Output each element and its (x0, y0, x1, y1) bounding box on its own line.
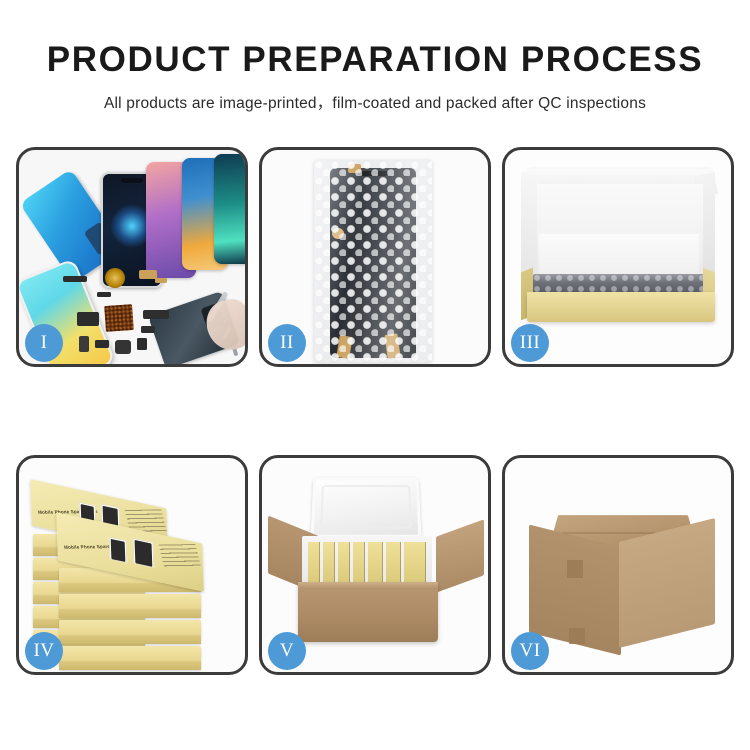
process-step-panel-4: Mobile Phone Spare Parts Mobile Phone Sp… (16, 455, 248, 675)
tape-patch-upper-icon (567, 560, 583, 578)
page-title: PRODUCT PREPARATION PROCESS (0, 42, 750, 77)
connector-strip-icon (141, 326, 155, 333)
box-front-panel (527, 292, 715, 322)
process-step-panel-5: V Boxes loaded into foam-lined shipping … (259, 455, 491, 675)
speaker-coil-icon (105, 268, 125, 288)
gold-contact-icon (155, 278, 167, 283)
step-badge-5: V (268, 632, 306, 670)
chip-board-icon (104, 304, 134, 332)
page-subtitle: All products are image-printed，film-coat… (0, 91, 750, 113)
step-badge-1: I (25, 324, 63, 362)
phone-teal-icon (214, 154, 245, 264)
box-stack: Mobile Phone Spare Parts Mobile Phone Sp… (27, 476, 239, 666)
process-steps-grid: I Mobile phone screens and spare parts l… (16, 147, 734, 675)
process-step-panel-6: VI Sealed brown shipping carton ready to… (502, 455, 734, 675)
vibration-motor-icon (115, 340, 131, 354)
plastic-sheen-overlay (314, 160, 432, 362)
tape-patch-lower-icon (569, 628, 585, 644)
sim-tray-icon (79, 336, 89, 352)
button-part-icon (137, 338, 147, 350)
small-chip-icon (95, 340, 109, 348)
camera-module-icon (77, 312, 99, 326)
carton-body-icon (298, 582, 438, 642)
stacked-box-item (59, 594, 201, 618)
process-step-panel-3: III Items placed in yellow inner box wit… (502, 147, 734, 367)
carton-right-face (619, 518, 715, 648)
foam-lid-icon (311, 478, 422, 538)
ribbon-cable-icon (143, 310, 169, 319)
step-badge-4: IV (25, 632, 63, 670)
bubble-wrap-bag (314, 160, 432, 362)
page-header: PRODUCT PREPARATION PROCESS All products… (0, 0, 750, 113)
carton-flap-right-icon (436, 519, 484, 592)
product-preparation-process-page: PRODUCT PREPARATION PROCESS All products… (0, 0, 750, 750)
step-badge-6: VI (511, 632, 549, 670)
step-badge-2: II (268, 324, 306, 362)
shipping-carton-icon (523, 480, 719, 656)
stacked-box-item (59, 620, 201, 644)
flex-cable-icon (63, 276, 87, 282)
packed-boxes-group (308, 542, 426, 582)
step-badge-3: III (511, 324, 549, 362)
process-step-panel-1: I Mobile phone screens and spare parts l… (16, 147, 248, 367)
stacked-box-item (59, 646, 201, 670)
antenna-strip-icon (97, 292, 111, 297)
process-step-panel-2: II Screen assembly sealed in bubble wrap… (259, 147, 491, 367)
